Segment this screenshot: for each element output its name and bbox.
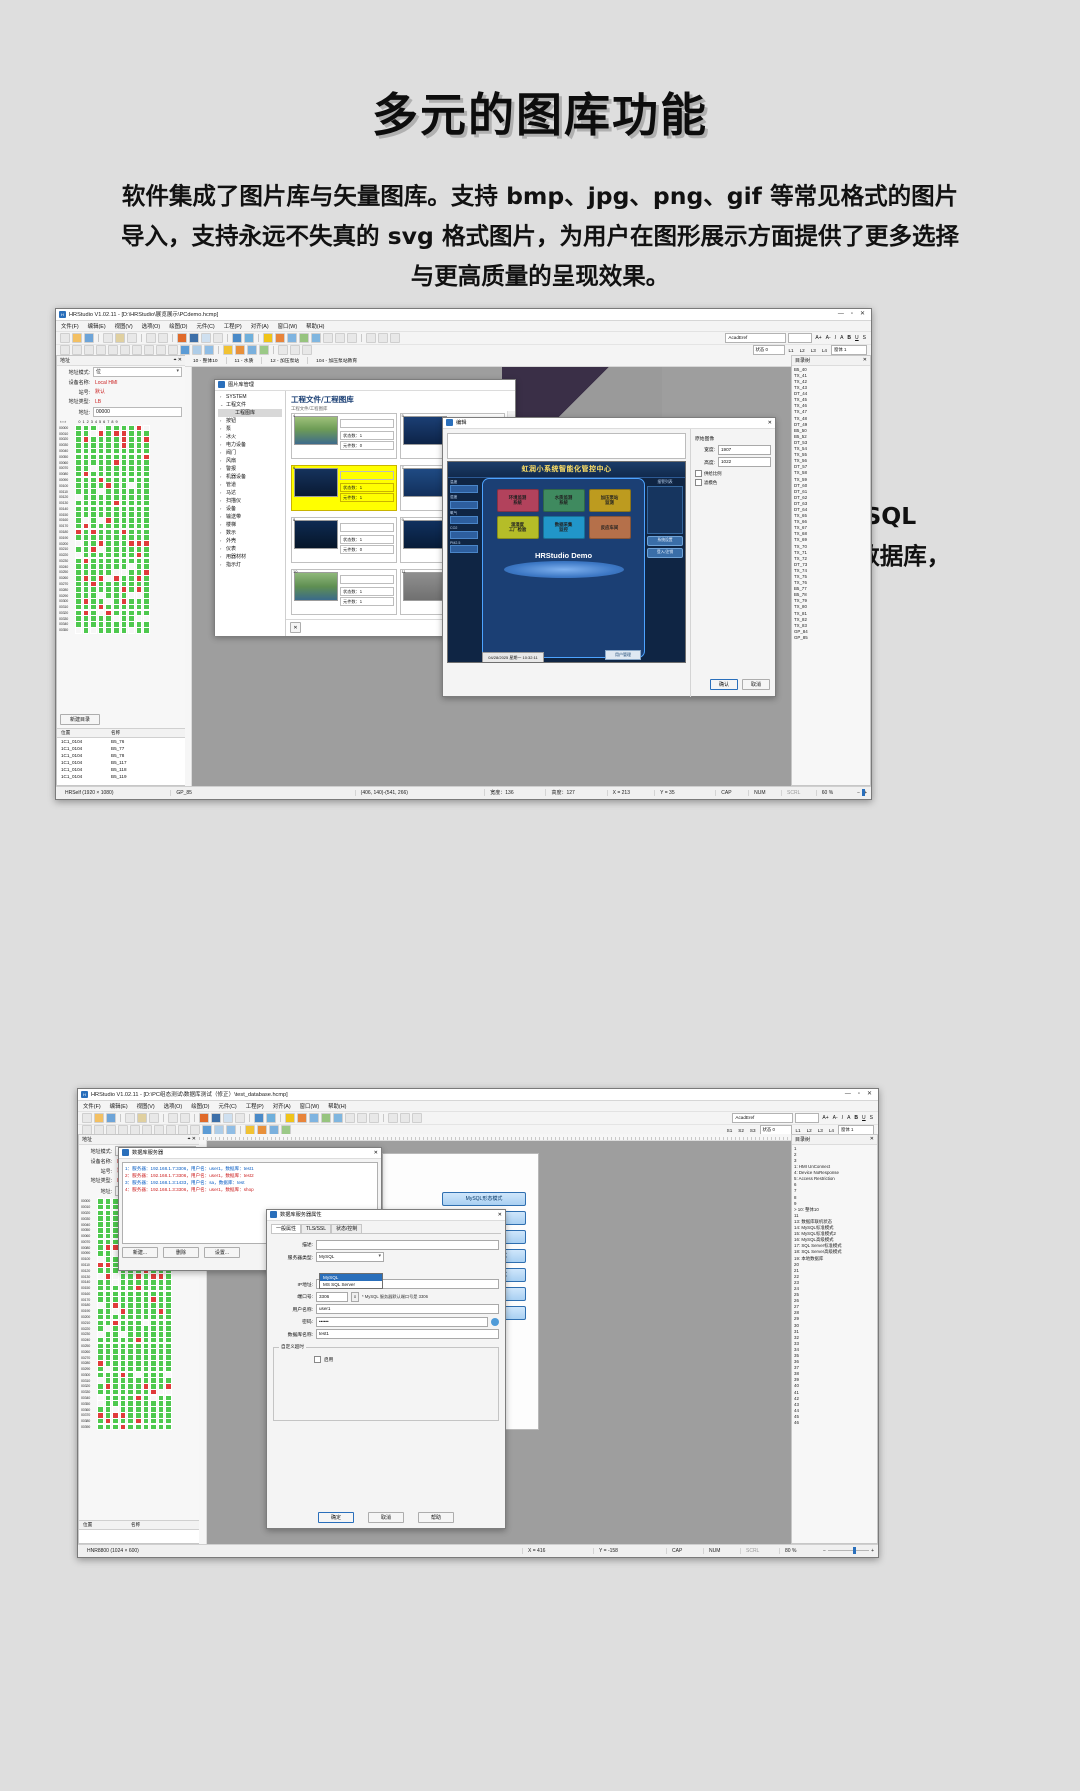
port-input[interactable]: 3306 (316, 1292, 348, 1302)
library-tree-item[interactable]: 工程图库 (218, 409, 282, 417)
font-size-input[interactable] (788, 333, 812, 343)
bit-cell[interactable] (128, 627, 135, 634)
font-name-input[interactable]: AcadEref (732, 1113, 793, 1123)
port-row[interactable]: 端口号: 3306 ⇕ * MySQL 服务器默认端口号是 3306 (273, 1292, 499, 1302)
screen-tab-s1[interactable]: S1 (725, 1128, 735, 1133)
edit-dialog-close-icon[interactable]: ✕ (768, 420, 772, 426)
library-card-name-field[interactable] (340, 419, 394, 428)
bit-cell[interactable] (120, 1424, 127, 1431)
menu-item-window[interactable]: 窗口(W) (300, 1102, 319, 1110)
window-controls[interactable]: — ▫ ✕ (845, 1091, 875, 1097)
timeout-enable-row[interactable]: 启用 (314, 1356, 498, 1363)
database-properties-titlebar[interactable]: 数据库服务器属性 ✕ (267, 1210, 505, 1221)
freehand-icon[interactable] (84, 345, 94, 355)
station-row[interactable]: 站号: 默认 (60, 388, 182, 396)
font-decrease-button[interactable]: A- (825, 335, 832, 341)
maximize-icon[interactable]: ▫ (858, 1091, 860, 1097)
library-tree-item[interactable]: ›泵 (218, 425, 282, 433)
rotate-icon[interactable] (213, 333, 223, 343)
image-width-input[interactable]: 1907 (718, 445, 771, 455)
state-select[interactable]: 状态 0 (753, 345, 785, 355)
bit-cell[interactable] (97, 1424, 104, 1431)
delete-server-button[interactable]: 删除 (163, 1247, 199, 1258)
image-height-input[interactable]: 1022 (718, 457, 771, 467)
library-tree-item[interactable]: ›楼梯 (218, 521, 282, 529)
align-center-icon[interactable] (290, 345, 300, 355)
switch-icon[interactable] (297, 1113, 307, 1123)
bit-cell[interactable] (75, 627, 82, 634)
save-icon[interactable] (106, 1113, 116, 1123)
menu-item-project[interactable]: 工程(P) (246, 1102, 264, 1110)
main-toolbar[interactable]: AcadEref A+ A- I A B U S (56, 332, 871, 345)
align-right-icon[interactable] (302, 345, 312, 355)
table-row[interactable]: 1C1_0104B5_119 (57, 773, 185, 780)
bold-button[interactable]: B (846, 335, 852, 341)
italic-button[interactable]: I (834, 335, 837, 341)
minimize-icon[interactable]: — (838, 311, 844, 317)
font-decrease-button[interactable]: A- (832, 1115, 839, 1121)
image-width-row[interactable]: 宽度: 1907 (695, 445, 771, 455)
close-icon[interactable]: ✕ (867, 1091, 872, 1097)
font-increase-button[interactable]: A+ (821, 1115, 829, 1121)
menu-item-help[interactable]: 帮助(H) (328, 1102, 346, 1110)
redo-icon[interactable] (180, 1113, 190, 1123)
cut-icon[interactable] (137, 1113, 147, 1123)
chevron-icon[interactable]: › (220, 394, 224, 399)
lamp-icon[interactable] (263, 333, 273, 343)
italic-button[interactable]: I (841, 1115, 844, 1121)
window-tab-11[interactable]: 11 - 水质 (227, 357, 263, 364)
chevron-icon[interactable]: › (220, 554, 224, 559)
filter-color-row[interactable]: 滤模色 (695, 479, 771, 486)
server-type-dropdown[interactable]: MySQL MS SQL Server (319, 1273, 383, 1289)
server-type-select[interactable]: MySQL (316, 1252, 384, 1262)
library-tree-item[interactable]: ›数示 (218, 529, 282, 537)
copy-icon[interactable] (125, 1113, 135, 1123)
pin-icon[interactable] (199, 1113, 209, 1123)
description-row[interactable]: 描述: (273, 1240, 499, 1250)
group-icon[interactable] (189, 333, 199, 343)
table-row[interactable]: 1C1_0104B5_118 (57, 766, 185, 773)
table-row[interactable]: 1C1_0104B5_77 (57, 745, 185, 752)
bit-cell[interactable] (105, 627, 112, 634)
polyline-icon[interactable] (72, 345, 82, 355)
library-tree-item[interactable]: ›机器设备 (218, 473, 282, 481)
database-icon[interactable] (369, 1113, 379, 1123)
chevron-icon[interactable]: › (220, 466, 224, 471)
picture-icon[interactable] (180, 345, 190, 355)
save-icon[interactable] (84, 333, 94, 343)
database-server-titlebar[interactable]: 数据库服务器 ✕ (119, 1148, 381, 1159)
properties-tabs[interactable]: 一般属性 TLS/SSL 状态/控制 (271, 1224, 501, 1234)
image-icon[interactable] (254, 1113, 264, 1123)
layer-l3[interactable]: L3 (816, 1128, 825, 1133)
hmi-user-management-button[interactable]: 用户管理 (605, 650, 641, 660)
vector-icon[interactable] (192, 345, 202, 355)
new-file-icon[interactable] (60, 333, 70, 343)
numeric-icon[interactable] (287, 333, 297, 343)
layer-l1[interactable]: L1 (787, 348, 796, 353)
library-tree-item[interactable]: ›扫描仪 (218, 497, 282, 505)
bit-cell[interactable] (105, 1424, 112, 1431)
sim-icon[interactable] (366, 333, 376, 343)
meter-icon[interactable] (333, 1113, 343, 1123)
library-tree-item[interactable]: ⌄工程文件 (218, 401, 282, 409)
hmi-button-grid[interactable]: 环境监测 系统水质监测 系统加压泵站 监测温湿度 工厂检验数据采集 监控反应车间 (483, 479, 644, 539)
ip-address-row[interactable]: IP地址: 192 . 168 . 1 . 7 (273, 1279, 499, 1289)
bit-row[interactable]: 00350 (59, 628, 183, 633)
alarm-icon[interactable] (323, 333, 333, 343)
menu-item-file[interactable]: 文件(F) (83, 1102, 101, 1110)
database-name-row[interactable]: 数据库名称: test1 (273, 1329, 499, 1339)
hmi-module-button[interactable]: 环境监测 系统 (497, 489, 539, 512)
server-list-row[interactable]: 1：服务器：192.168.1.7:3306，用户名：user1，数据库：tes… (125, 1165, 375, 1172)
directory-tree-panel[interactable]: 目录树 ✕ B5_40TX_41TX_42TX_43DT_44TX_45TX_4… (791, 355, 871, 786)
password-row[interactable]: 密码: •••••• (273, 1317, 499, 1327)
library-tree-item[interactable]: ›SYSTEM (218, 393, 282, 401)
library-card[interactable]: 8状态数：1元件数：0 (291, 517, 397, 563)
library-card-name-field[interactable] (340, 575, 394, 584)
chevron-icon[interactable]: › (220, 426, 224, 431)
library-tree-item[interactable]: ›输送带 (218, 513, 282, 521)
zoom-slider-thumb[interactable] (853, 1547, 856, 1554)
bold-button[interactable]: B (853, 1115, 859, 1121)
canvas-artboard[interactable] (502, 362, 662, 417)
library-card[interactable]: 6状态数：1元件数：1 (291, 465, 397, 511)
address-table-body[interactable]: 1C1_0104B5_761C1_0104B5_771C1_0104B5_781… (57, 738, 185, 780)
rectangle-icon[interactable] (132, 345, 142, 355)
address-panel-pin-icon[interactable]: ⌖ ✕ (174, 357, 182, 363)
screen-tab-s2[interactable]: S2 (736, 1128, 746, 1133)
circle-icon[interactable] (108, 345, 118, 355)
database-properties-close-icon[interactable]: ✕ (498, 1212, 502, 1218)
menu-item-options[interactable]: 选项(O) (142, 322, 161, 330)
library-card-thumbnail[interactable] (294, 468, 338, 497)
chevron-icon[interactable]: › (220, 506, 224, 511)
library-card-thumbnail[interactable] (403, 520, 447, 549)
screen-tab-s3[interactable]: S3 (748, 1128, 758, 1133)
main-toolbar[interactable]: AcadEref A+ A- I A B U S (78, 1112, 878, 1125)
server-list-row[interactable]: 3：服务器：192.168.1.3:1433，用户名：sa，数据库：test (125, 1179, 375, 1186)
redo-icon[interactable] (158, 333, 168, 343)
menu-item-project[interactable]: 工程(P) (224, 322, 242, 330)
library-tree-item[interactable]: ›马达 (218, 489, 282, 497)
table-row[interactable]: 1C1_0104B5_76 (57, 738, 185, 745)
download-icon[interactable] (390, 333, 400, 343)
library-tree-item[interactable]: ›设备 (218, 505, 282, 513)
shape-icon[interactable] (244, 333, 254, 343)
address-type-row[interactable]: 地址类型: LB (60, 398, 182, 406)
server-type-row[interactable]: 服务器类型: MySQL (273, 1252, 499, 1262)
undo-icon[interactable] (146, 333, 156, 343)
help-button[interactable]: 帮助 (418, 1512, 454, 1523)
bit-cell[interactable] (135, 1424, 142, 1431)
chevron-icon[interactable]: › (220, 482, 224, 487)
menu-item-draw[interactable]: 绘图(D) (191, 1102, 209, 1110)
strike-button[interactable]: S (862, 335, 867, 341)
new-server-button[interactable]: 新建... (122, 1247, 158, 1258)
window-tab-12[interactable]: 12 - 加压泵站 (262, 357, 308, 364)
strike-button[interactable]: S (869, 1115, 874, 1121)
history-icon[interactable] (347, 333, 357, 343)
filter-color-checkbox[interactable] (695, 479, 702, 486)
library-tree-item[interactable]: ›指示灯 (218, 561, 282, 569)
menu-item-component[interactable]: 元件(C) (196, 322, 214, 330)
zoom-slider[interactable]: − + (820, 1548, 874, 1554)
directory-tree-list[interactable]: 1231: HMI UnConnect4: Device NoResponse5… (792, 1145, 877, 1427)
cancel-button[interactable]: 取消 (368, 1512, 404, 1523)
library-card-thumbnail[interactable] (294, 520, 338, 549)
layer-l2[interactable]: L2 (798, 348, 807, 353)
bit-cell[interactable] (90, 627, 97, 634)
bit-row[interactable]: 00390 (81, 1424, 197, 1429)
menu-item-edit[interactable]: 编辑(E) (110, 1102, 128, 1110)
chevron-icon[interactable]: › (220, 562, 224, 567)
address-row[interactable]: 地址: 00000 (60, 407, 182, 417)
underline-button[interactable]: U (854, 335, 860, 341)
chevron-icon[interactable]: › (220, 434, 224, 439)
chart-icon[interactable] (299, 333, 309, 343)
library-tree-list[interactable]: ›SYSTEM⌄工程文件工程图库›按钮›泵›冰火›电力设备›阀门›风扇›警报›机… (215, 391, 285, 571)
window-tab-104[interactable]: 104 - 加压泵站教育 (308, 357, 365, 364)
list-item[interactable]: GP_85 (794, 635, 868, 641)
library-card-name-field[interactable] (340, 523, 394, 532)
hmi-module-button[interactable]: 数据采集 监控 (543, 516, 585, 539)
db-mode-button[interactable]: MySQL形态模式 (442, 1192, 526, 1206)
layer-l1[interactable]: L1 (794, 1128, 803, 1133)
text-icon[interactable] (168, 345, 178, 355)
hmi-module-button[interactable]: 水质监测 系统 (543, 489, 585, 512)
database-server-close-icon[interactable]: ✕ (374, 1150, 378, 1156)
open-file-icon[interactable] (94, 1113, 104, 1123)
chevron-icon[interactable]: › (220, 418, 224, 423)
menubar[interactable]: 文件(F) 编辑(E) 视图(V) 选项(O) 绘图(D) 元件(C) 工程(P… (78, 1101, 878, 1112)
list-item[interactable]: 46 (794, 1420, 875, 1426)
polygon-icon[interactable] (156, 345, 166, 355)
chevron-icon[interactable]: › (220, 450, 224, 455)
library-delete-button[interactable]: ✕ (290, 622, 301, 633)
password-input[interactable]: •••••• (316, 1317, 488, 1327)
bar-icon[interactable] (259, 345, 269, 355)
hrstudio-window-gallery[interactable]: H HRStudio V1.02.11 - [D:\HRStudio\展览展示\… (55, 308, 872, 800)
open-file-icon[interactable] (72, 333, 82, 343)
address-input[interactable]: 00000 (93, 407, 182, 417)
address-panel-pin-icon[interactable]: ⌖ ✕ (188, 1136, 196, 1142)
new-directory-button[interactable]: 新建目录 (60, 714, 100, 725)
sim-icon[interactable] (388, 1113, 398, 1123)
menu-item-edit[interactable]: 编辑(E) (88, 322, 106, 330)
menu-item-options[interactable]: 选项(O) (164, 1102, 183, 1110)
panel-close-icon[interactable]: ✕ (863, 357, 867, 363)
keep-ratio-checkbox[interactable] (695, 470, 702, 477)
maximize-icon[interactable]: ▫ (851, 311, 853, 317)
table-row[interactable]: 1C1_0104B5_117 (57, 759, 185, 766)
window-titlebar[interactable]: H HRStudio V1.02.11 - [D:\HRStudio\展览展示\… (56, 309, 871, 321)
chart-icon[interactable] (321, 1113, 331, 1123)
zoom-slider-thumb[interactable] (862, 789, 865, 796)
description-input[interactable] (316, 1240, 499, 1250)
slider-icon[interactable] (247, 345, 257, 355)
align-left-icon[interactable] (278, 345, 288, 355)
layer-l2[interactable]: L2 (805, 1128, 814, 1133)
menu-item-view[interactable]: 视图(V) (115, 322, 133, 330)
library-tree-item[interactable]: ›按钮 (218, 417, 282, 425)
arc-icon[interactable] (96, 345, 106, 355)
bit-cell[interactable] (121, 627, 128, 634)
directory-tree-list[interactable]: B5_40TX_41TX_42TX_43DT_44TX_45TX_46TX_47… (792, 366, 870, 642)
edit-ok-button[interactable]: 确认 (710, 679, 738, 690)
new-file-icon[interactable] (82, 1113, 92, 1123)
lb-bit-grid[interactable]: 0000000010000200003000040000500006000070… (57, 424, 185, 634)
layer-l4[interactable]: L4 (827, 1128, 836, 1133)
copy-icon[interactable] (103, 333, 113, 343)
bit-cell[interactable] (143, 1424, 150, 1431)
panel-close-icon[interactable]: ✕ (870, 1136, 874, 1142)
tab-tls-ssl[interactable]: TLS/SSL (301, 1224, 331, 1233)
select-icon[interactable] (223, 1113, 233, 1123)
bit-cell[interactable] (98, 627, 105, 634)
menu-item-window[interactable]: 窗口(W) (278, 322, 297, 330)
download-icon[interactable] (412, 1113, 422, 1123)
text-color-button[interactable]: A (839, 335, 844, 341)
keep-ratio-row[interactable]: 供给比例 (695, 470, 771, 477)
underline-button[interactable]: U (861, 1115, 867, 1121)
server-list-row[interactable]: 2：服务器：192.168.1.7:3306，用户名：user1，数据库：tes… (125, 1172, 375, 1179)
bit-cell[interactable] (165, 1424, 172, 1431)
lamp-icon[interactable] (285, 1113, 295, 1123)
hmi-login-logout-button[interactable]: 登入/注销 (647, 548, 683, 558)
library-card-thumbnail[interactable] (403, 468, 447, 497)
window-controls[interactable]: — ▫ ✕ (838, 311, 868, 317)
numeric-icon[interactable] (309, 1113, 319, 1123)
port-spinner[interactable]: ⇕ (351, 1292, 359, 1302)
tab-status-control[interactable]: 状态/控制 (331, 1224, 362, 1233)
library-card[interactable]: 4状态数：1元件数：0 (291, 413, 397, 459)
bit-cell[interactable] (150, 1424, 157, 1431)
hmi-module-button[interactable]: 温湿度 工厂检验 (497, 516, 539, 539)
library-tree-item[interactable]: ›警报 (218, 465, 282, 473)
database-name-input[interactable]: test1 (316, 1329, 499, 1339)
hmi-system-settings-button[interactable]: 系统设置 (647, 536, 683, 546)
library-card-thumbnail[interactable] (294, 572, 338, 601)
text-color-button[interactable]: A (846, 1115, 851, 1121)
menubar[interactable]: 文件(F) 编辑(E) 视图(V) 选项(O) 绘图(D) 元件(C) 工程(P… (56, 321, 871, 332)
library-card-name-field[interactable] (340, 471, 394, 480)
bit-cell[interactable] (143, 627, 150, 634)
chevron-icon[interactable]: ⌄ (220, 402, 224, 407)
edit-cancel-button[interactable]: 取消 (742, 679, 770, 690)
chevron-icon[interactable]: › (220, 514, 224, 519)
ok-button[interactable]: 确定 (318, 1512, 354, 1523)
dropdown-option-mysql[interactable]: MySQL (320, 1274, 382, 1281)
dropdown-option-mssql[interactable]: MS SQL Server (320, 1281, 382, 1288)
directory-tree-panel[interactable]: 目录树 ✕ 1231: HMI UnConnect4: Device NoRes… (791, 1134, 878, 1544)
library-tree-item[interactable]: ›风扇 (218, 457, 282, 465)
library-card[interactable]: 10状态数：1元件数：1 (291, 569, 397, 615)
bit-cell[interactable] (136, 627, 143, 634)
server-list-row[interactable]: 4：服务器：192.168.1.3:3306，用户名：user1，数据库：sho… (125, 1186, 375, 1193)
library-tree-item[interactable]: ›冰火 (218, 433, 282, 441)
zoom-slider[interactable]: − + (854, 790, 867, 796)
window-tab-10[interactable]: 10 - 整体10 (185, 357, 227, 364)
paste-icon[interactable] (127, 333, 137, 343)
recipe-icon[interactable] (335, 333, 345, 343)
toggle-switch-icon[interactable] (235, 345, 245, 355)
chevron-icon[interactable]: › (220, 458, 224, 463)
line-icon[interactable] (60, 345, 70, 355)
switch-icon[interactable] (275, 333, 285, 343)
pin-icon[interactable] (177, 333, 187, 343)
menu-item-align[interactable]: 对齐(A) (251, 322, 269, 330)
bit-cell[interactable] (83, 627, 90, 634)
bit-cell[interactable] (127, 1424, 134, 1431)
meter-icon[interactable] (311, 333, 321, 343)
compile-icon[interactable] (400, 1113, 410, 1123)
library-tree-item[interactable]: ›仪表 (218, 545, 282, 553)
hmi-module-button[interactable]: 反应车间 (589, 516, 631, 539)
database-properties-dialog[interactable]: 数据库服务器属性 ✕ 一般属性 TLS/SSL 状态/控制 描述: 服务器类型:… (266, 1209, 506, 1529)
close-icon[interactable]: ✕ (860, 311, 865, 317)
font-size-input[interactable] (795, 1113, 819, 1123)
properties-dialog-actions[interactable]: 确定 取消 帮助 (267, 1512, 505, 1523)
bit-cell[interactable] (113, 627, 120, 634)
window-select[interactable]: 窗体 1 (831, 345, 867, 355)
image-library-titlebar[interactable]: 图片库管理 (215, 380, 515, 391)
menu-item-draw[interactable]: 绘图(D) (169, 322, 187, 330)
timeout-enable-checkbox[interactable] (314, 1356, 321, 1363)
menu-item-align[interactable]: 对齐(A) (273, 1102, 291, 1110)
address-panel[interactable]: 地址 ⌖ ✕ 地址模式: 位 设备名称: Local HMI 站号: 默认 地址… (56, 355, 186, 786)
device-name-row[interactable]: 设备名称: Local HMI (60, 379, 182, 387)
cut-icon[interactable] (115, 333, 125, 343)
library-card-thumbnail[interactable] (294, 416, 338, 445)
hmi-preview[interactable]: 虹润小系统智能化管控中心 温度 湿度 氧气 CO2 PM2.5 报警列表 系统设… (447, 461, 686, 663)
image-height-row[interactable]: 高度: 1022 (695, 457, 771, 467)
window-titlebar[interactable]: H HRStudio V1.02.11 - [D:\PC组态测试\数据库测试（修… (78, 1089, 878, 1101)
compile-icon[interactable] (378, 333, 388, 343)
rotate-icon[interactable] (235, 1113, 245, 1123)
nav-arrows-icon[interactable]: ⇦⇨ (60, 419, 66, 424)
layer-l4[interactable]: L4 (820, 348, 829, 353)
hrstudio-window-database[interactable]: H HRStudio V1.02.11 - [D:\PC组态测试\数据库测试（修… (77, 1088, 879, 1558)
paste-icon[interactable] (149, 1113, 159, 1123)
tab-general[interactable]: 一般属性 (271, 1224, 301, 1233)
hmi-module-button[interactable]: 加压泵站 监测 (589, 489, 631, 512)
recipe-icon[interactable] (357, 1113, 367, 1123)
alarm-icon[interactable] (345, 1113, 355, 1123)
menu-item-component[interactable]: 元件(C) (218, 1102, 236, 1110)
address-mode-row[interactable]: 地址模式: 位 (60, 367, 182, 377)
username-row[interactable]: 用户名称: user1 (273, 1304, 499, 1314)
minimize-icon[interactable]: — (845, 1091, 851, 1097)
layer-l3[interactable]: L3 (809, 348, 818, 353)
settings-server-button[interactable]: 设置... (204, 1247, 240, 1258)
group-icon[interactable] (211, 1113, 221, 1123)
chevron-icon[interactable]: › (220, 474, 224, 479)
chevron-icon[interactable]: › (220, 538, 224, 543)
chevron-icon[interactable]: › (220, 490, 224, 495)
table-icon[interactable] (204, 345, 214, 355)
address-mode-select[interactable]: 位 (93, 367, 182, 377)
username-input[interactable]: user1 (316, 1304, 499, 1314)
image-icon[interactable] (232, 333, 242, 343)
library-tree-item[interactable]: ›管道 (218, 481, 282, 489)
font-name-input[interactable]: AcadEref (725, 333, 786, 343)
library-card-thumbnail[interactable] (403, 572, 447, 601)
select-icon[interactable] (201, 333, 211, 343)
library-tree-item[interactable]: ›阀门 (218, 449, 282, 457)
library-tree-item[interactable]: ›用器材材 (218, 553, 282, 561)
